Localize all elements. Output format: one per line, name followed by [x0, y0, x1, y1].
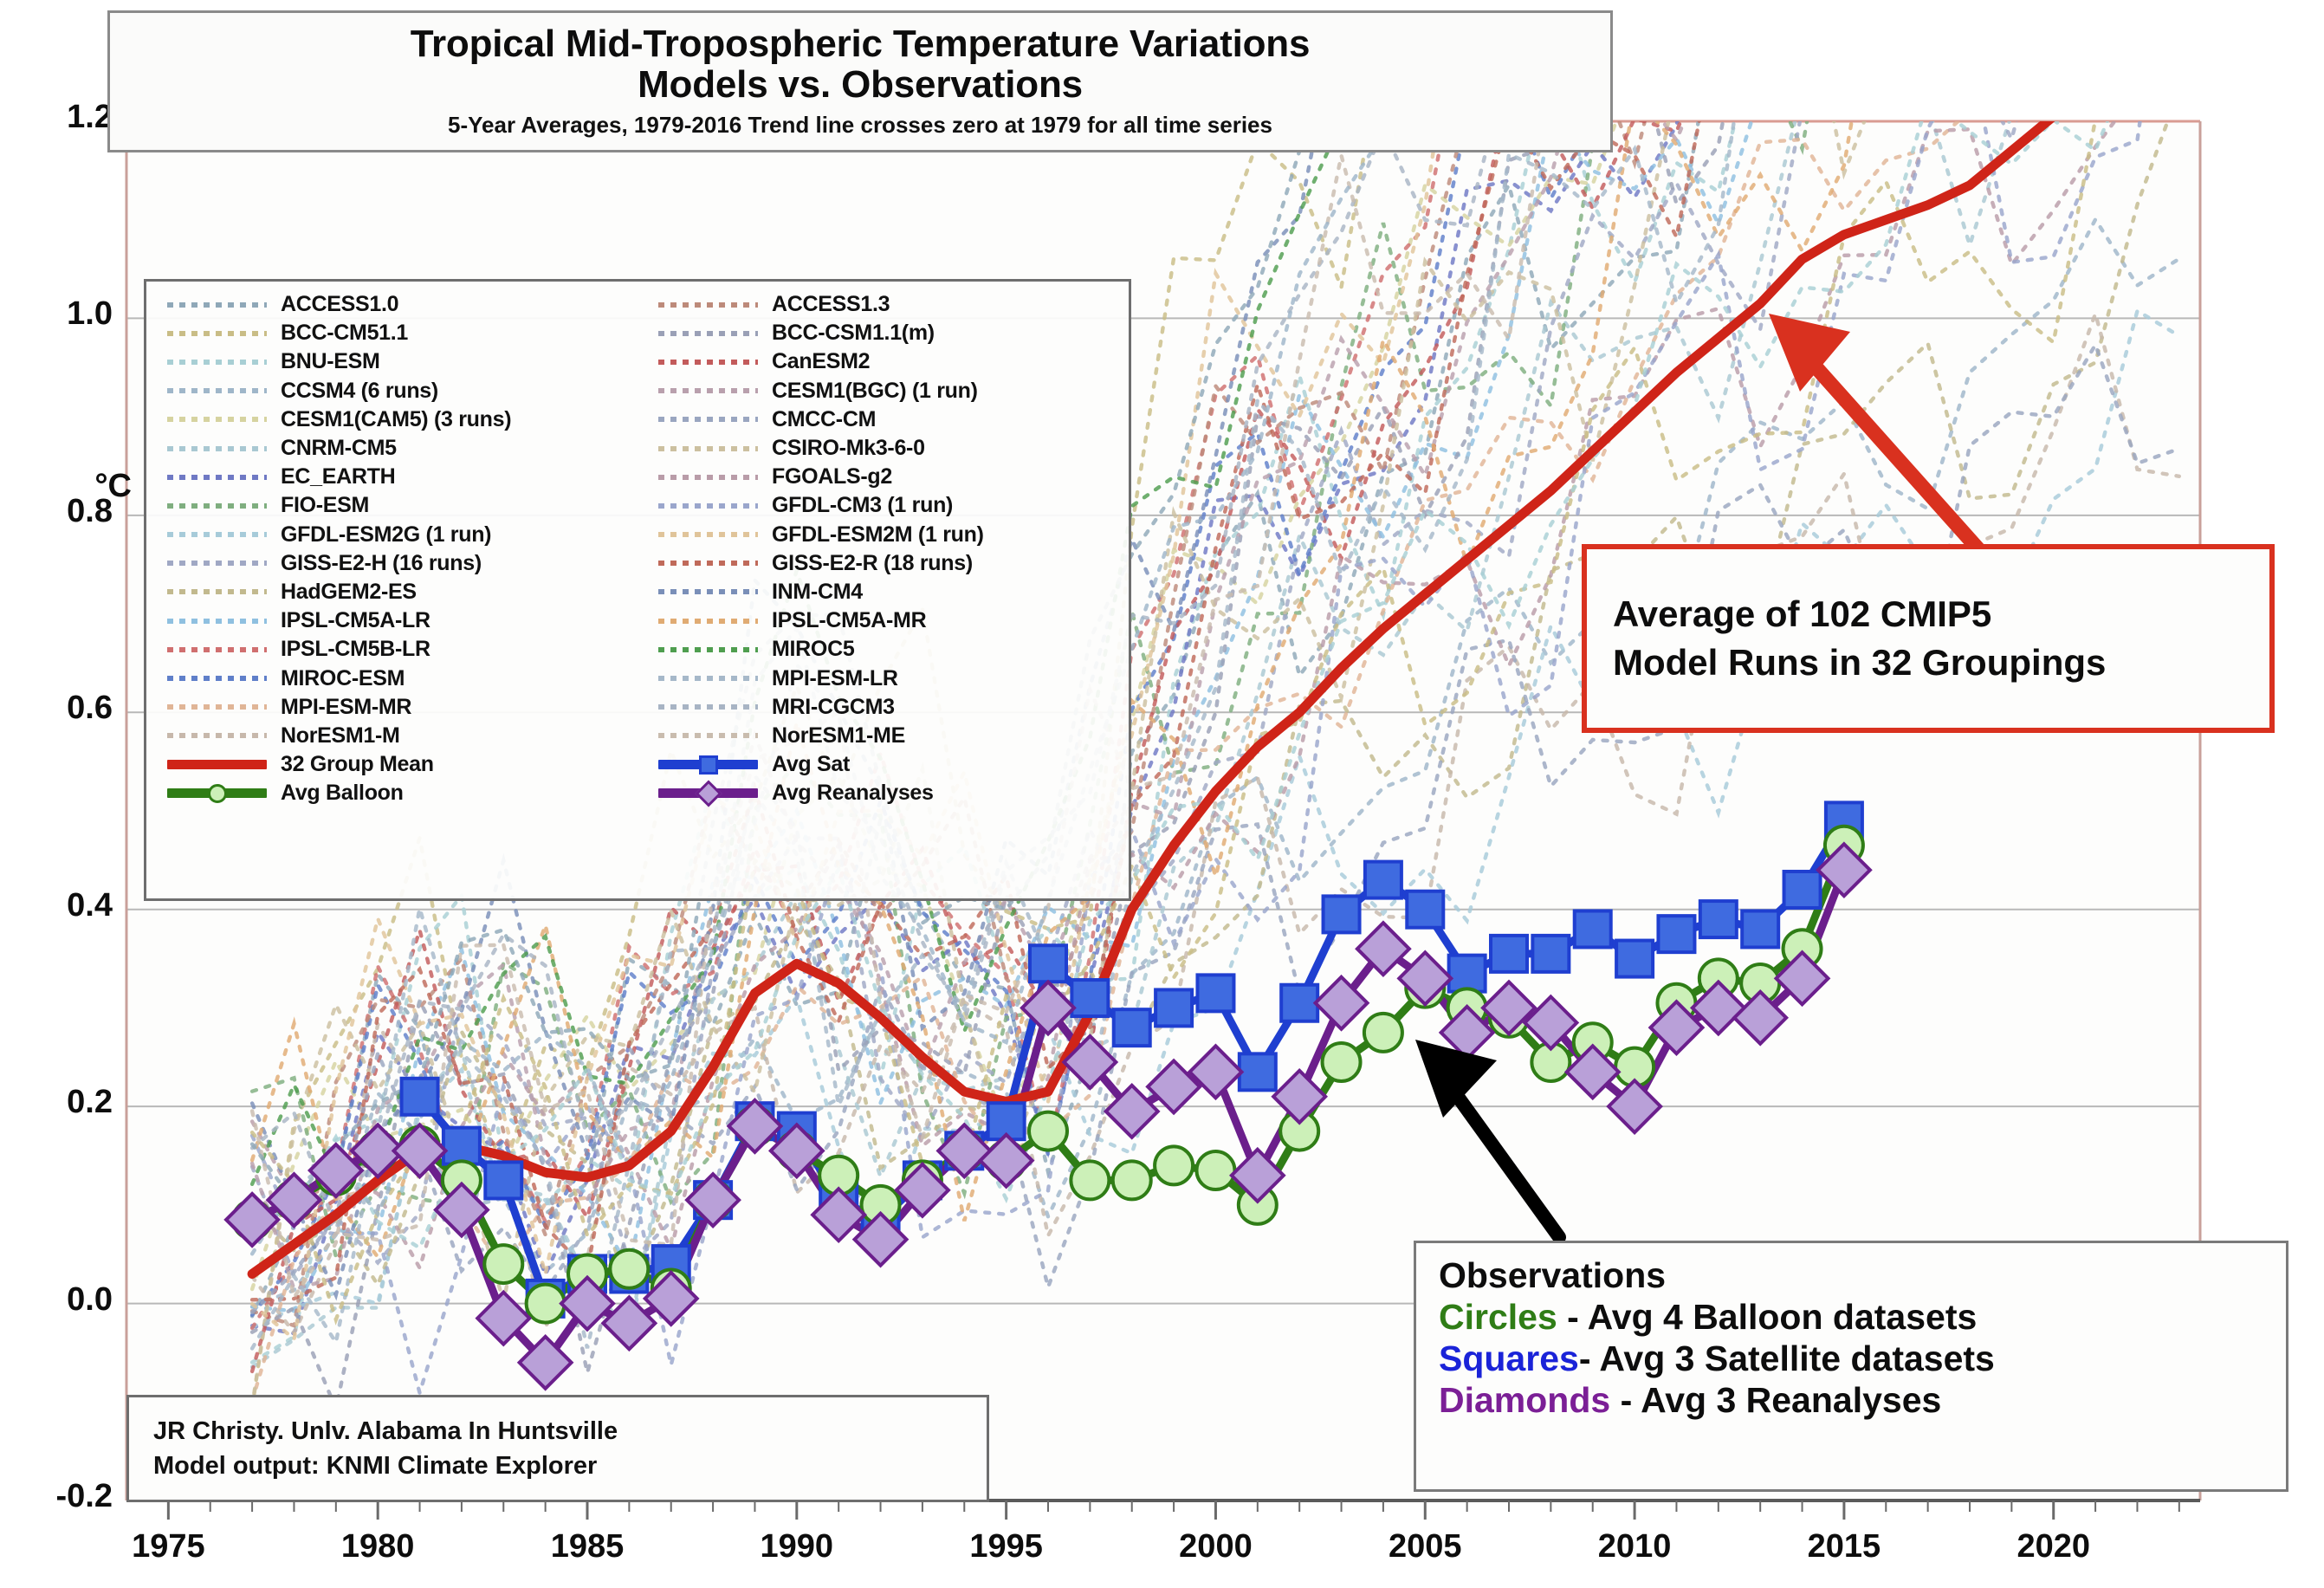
- cmip5-annotation-box: Average of 102 CMIP5 Model Runs in 32 Gr…: [1582, 544, 2275, 733]
- legend-item-label: CNRM-CM5: [281, 436, 397, 461]
- legend-dotted-line-swatch: [167, 701, 267, 713]
- legend-item-label: INM-CM4: [772, 580, 863, 605]
- legend-item-label: BCC-CM51.1: [281, 321, 408, 346]
- legend-item-label: IPSL-CM5A-MR: [772, 608, 926, 633]
- legend-item-label: Avg Reanalyses: [772, 781, 934, 806]
- legend-item-label: GISS-E2-H (16 runs): [281, 551, 482, 576]
- y-axis-tick-label: 1.2: [0, 99, 113, 136]
- x-axis-tick-label: 2005: [1356, 1528, 1494, 1565]
- legend-item-label: NorESM1-M: [281, 723, 400, 749]
- legend-item[interactable]: MPI-ESM-MR: [146, 693, 638, 722]
- observations-annotation-box: Observations Circles - Avg 4 Balloon dat…: [1414, 1241, 2288, 1492]
- legend-item[interactable]: CNRM-CM5: [146, 434, 638, 463]
- legend-item[interactable]: INM-CM4: [638, 578, 1129, 606]
- y-axis-tick-label: 0.0: [0, 1281, 113, 1319]
- legend-item[interactable]: CanESM2: [638, 347, 1129, 376]
- legend-item-label: FIO-ESM: [281, 493, 369, 518]
- legend-item[interactable]: HadGEM2-ES: [146, 578, 638, 606]
- legend-item-label: CCSM4 (6 runs): [281, 379, 438, 404]
- legend-item-label: MPI-ESM-LR: [772, 666, 898, 691]
- legend-item[interactable]: IPSL-CM5A-MR: [638, 606, 1129, 635]
- legend-column-right: ACCESS1.3BCC-CSM1.1(m)CanESM2CESM1(BGC) …: [638, 290, 1129, 898]
- legend-item-label: FGOALS-g2: [772, 464, 892, 489]
- chart-title-line-2: Models vs. Observations: [638, 65, 1083, 106]
- legend-dotted-line-swatch: [167, 615, 267, 627]
- legend-item[interactable]: MRI-CGCM3: [638, 693, 1129, 722]
- legend-item-label: CESM1(CAM5) (3 runs): [281, 407, 511, 432]
- legend-dotted-line-swatch: [167, 729, 267, 742]
- legend-item[interactable]: BNU-ESM: [146, 347, 638, 376]
- legend-dotted-line-swatch: [658, 356, 758, 368]
- legend-diamond-marker-icon: [695, 780, 722, 807]
- legend-dotted-line-swatch: [658, 443, 758, 455]
- legend-item-label: MIROC5: [772, 637, 854, 662]
- x-axis-tick-label: 1985: [518, 1528, 657, 1565]
- legend-item[interactable]: BCC-CM51.1: [146, 319, 638, 347]
- legend-item-label: ACCESS1.3: [772, 292, 890, 317]
- legend-solid-line-swatch: [658, 788, 758, 798]
- legend-item-label: Avg Balloon: [281, 781, 404, 806]
- legend-dotted-line-swatch: [658, 385, 758, 397]
- observations-diamonds-line: Diamonds - Avg 3 Reanalyses: [1439, 1380, 2286, 1422]
- observations-squares-line: Squares- Avg 3 Satellite datasets: [1439, 1338, 2286, 1380]
- legend-item[interactable]: GFDL-ESM2G (1 run): [146, 521, 638, 549]
- legend-item-label: GFDL-CM3 (1 run): [772, 493, 953, 518]
- observations-heading: Observations: [1439, 1255, 2286, 1297]
- legend-item[interactable]: IPSL-CM5A-LR: [146, 606, 638, 635]
- legend-dotted-line-swatch: [658, 672, 758, 684]
- legend-item[interactable]: BCC-CSM1.1(m): [638, 319, 1129, 347]
- legend-dotted-line-swatch: [167, 500, 267, 512]
- squares-description: - Avg 3 Satellite datasets: [1579, 1338, 1995, 1378]
- credit-line-1: JR Christy. Unlv. Alabama In Huntsville: [153, 1414, 987, 1449]
- legend-dotted-line-swatch: [658, 586, 758, 598]
- legend-item[interactable]: FGOALS-g2: [638, 463, 1129, 491]
- legend-item[interactable]: GISS-E2-H (16 runs): [146, 549, 638, 578]
- chart-title-box: Tropical Mid-Tropospheric Temperature Va…: [107, 10, 1613, 152]
- chart-subtitle: 5-Year Averages, 1979-2016 Trend line cr…: [448, 112, 1272, 139]
- legend-item[interactable]: IPSL-CM5B-LR: [146, 635, 638, 664]
- legend-item[interactable]: Avg Sat: [638, 750, 1129, 779]
- legend-item-label: MRI-CGCM3: [772, 695, 895, 720]
- legend-column-left: ACCESS1.0BCC-CM51.1BNU-ESMCCSM4 (6 runs)…: [146, 290, 638, 898]
- x-axis-tick-label: 1990: [728, 1528, 866, 1565]
- legend-dotted-line-swatch: [658, 500, 758, 512]
- legend-solid-line-swatch: [167, 760, 267, 769]
- diamonds-keyword: Diamonds: [1439, 1380, 1610, 1420]
- legend-item-label: CMCC-CM: [772, 407, 876, 432]
- legend-dotted-line-swatch: [658, 557, 758, 569]
- legend-item[interactable]: NorESM1-M: [146, 722, 638, 750]
- y-axis-label: °C: [19, 468, 132, 505]
- legend-dotted-line-swatch: [658, 528, 758, 541]
- circles-keyword: Circles: [1439, 1297, 1557, 1337]
- legend-dotted-line-swatch: [167, 443, 267, 455]
- legend-dotted-line-swatch: [658, 729, 758, 742]
- legend-item[interactable]: ACCESS1.0: [146, 290, 638, 319]
- legend-dotted-line-swatch: [167, 471, 267, 483]
- legend-dotted-line-swatch: [167, 327, 267, 340]
- legend-item[interactable]: FIO-ESM: [146, 491, 638, 520]
- legend-item[interactable]: Avg Balloon: [146, 779, 638, 807]
- legend-dotted-line-swatch: [658, 471, 758, 483]
- legend-item-label: MIROC-ESM: [281, 666, 405, 691]
- legend-item-label: GFDL-ESM2M (1 run): [772, 522, 984, 548]
- legend-item-label: BNU-ESM: [281, 349, 380, 374]
- legend-item-label: IPSL-CM5B-LR: [281, 637, 430, 662]
- legend-dotted-line-swatch: [658, 644, 758, 656]
- legend-circle-marker-icon: [208, 784, 227, 803]
- legend-dotted-line-swatch: [167, 672, 267, 684]
- legend-dotted-line-swatch: [658, 701, 758, 713]
- legend-item[interactable]: 32 Group Mean: [146, 750, 638, 779]
- legend-item[interactable]: GISS-E2-R (18 runs): [638, 549, 1129, 578]
- chart-legend: ACCESS1.0BCC-CM51.1BNU-ESMCCSM4 (6 runs)…: [144, 279, 1131, 901]
- legend-dotted-line-swatch: [167, 299, 267, 311]
- legend-item-label: NorESM1-ME: [772, 723, 905, 749]
- legend-dotted-line-swatch: [658, 413, 758, 425]
- legend-item-label: CSIRO-Mk3-6-0: [772, 436, 925, 461]
- legend-dotted-line-swatch: [658, 299, 758, 311]
- legend-item-label: BCC-CSM1.1(m): [772, 321, 935, 346]
- legend-item[interactable]: MIROC5: [638, 635, 1129, 664]
- legend-item[interactable]: GFDL-ESM2M (1 run): [638, 521, 1129, 549]
- legend-item[interactable]: CSIRO-Mk3-6-0: [638, 434, 1129, 463]
- x-axis-tick-label: 1975: [99, 1528, 237, 1565]
- x-axis-tick-label: 1980: [308, 1528, 447, 1565]
- diamonds-description: - Avg 3 Reanalyses: [1610, 1380, 1941, 1420]
- cmip5-annotation-line-2: Model Runs in 32 Groupings: [1613, 638, 2269, 687]
- legend-solid-line-swatch: [167, 788, 267, 798]
- legend-item-label: IPSL-CM5A-LR: [281, 608, 430, 633]
- legend-item[interactable]: GFDL-CM3 (1 run): [638, 491, 1129, 520]
- legend-dotted-line-swatch: [658, 615, 758, 627]
- legend-item[interactable]: NorESM1-ME: [638, 722, 1129, 750]
- legend-dotted-line-swatch: [658, 327, 758, 340]
- legend-item-label: CanESM2: [772, 349, 870, 374]
- legend-item[interactable]: Avg Reanalyses: [638, 779, 1129, 807]
- legend-item[interactable]: CESM1(BGC) (1 run): [638, 377, 1129, 405]
- credit-box: JR Christy. Unlv. Alabama In Huntsville …: [126, 1395, 989, 1502]
- legend-item-label: GFDL-ESM2G (1 run): [281, 522, 491, 548]
- circles-description: - Avg 4 Balloon datasets: [1557, 1297, 1978, 1337]
- y-axis-tick-label: 0.4: [0, 887, 113, 924]
- legend-item-label: ACCESS1.0: [281, 292, 398, 317]
- y-axis-tick-label: 0.2: [0, 1084, 113, 1121]
- legend-dotted-line-swatch: [167, 528, 267, 541]
- chart-title-line-1: Tropical Mid-Tropospheric Temperature Va…: [411, 24, 1311, 65]
- x-axis-tick-label: 2010: [1565, 1528, 1704, 1565]
- legend-item-label: GISS-E2-R (18 runs): [772, 551, 973, 576]
- legend-item[interactable]: EC_EARTH: [146, 463, 638, 491]
- legend-item-label: EC_EARTH: [281, 464, 395, 489]
- legend-item-label: CESM1(BGC) (1 run): [772, 379, 978, 404]
- legend-dotted-line-swatch: [167, 586, 267, 598]
- legend-square-marker-icon: [699, 755, 718, 775]
- legend-item-label: HadGEM2-ES: [281, 580, 417, 605]
- legend-item[interactable]: MIROC-ESM: [146, 664, 638, 692]
- legend-item[interactable]: CCSM4 (6 runs): [146, 377, 638, 405]
- legend-dotted-line-swatch: [167, 356, 267, 368]
- legend-dotted-line-swatch: [167, 385, 267, 397]
- observations-circles-line: Circles - Avg 4 Balloon datasets: [1439, 1297, 2286, 1338]
- legend-dotted-line-swatch: [167, 557, 267, 569]
- legend-dotted-line-swatch: [167, 413, 267, 425]
- x-axis-tick-label: 2020: [1984, 1528, 2123, 1565]
- squares-keyword: Squares: [1439, 1338, 1579, 1378]
- legend-item-label: 32 Group Mean: [281, 752, 434, 777]
- y-axis-tick-label: 0.6: [0, 690, 113, 727]
- legend-item[interactable]: ACCESS1.3: [638, 290, 1129, 319]
- legend-item[interactable]: CMCC-CM: [638, 405, 1129, 434]
- y-axis-tick-label: 1.0: [0, 295, 113, 333]
- legend-item[interactable]: MPI-ESM-LR: [638, 664, 1129, 692]
- x-axis-tick-label: 2000: [1146, 1528, 1285, 1565]
- legend-item[interactable]: CESM1(CAM5) (3 runs): [146, 405, 638, 434]
- legend-dotted-line-swatch: [167, 644, 267, 656]
- cmip5-annotation-line-1: Average of 102 CMIP5: [1613, 590, 2269, 638]
- credit-line-2: Model output: KNMI Climate Explorer: [153, 1449, 987, 1483]
- legend-item-label: Avg Sat: [772, 752, 850, 777]
- x-axis-tick-label: 2015: [1775, 1528, 1913, 1565]
- legend-solid-line-swatch: [658, 760, 758, 769]
- y-axis-tick-label: -0.2: [0, 1478, 113, 1515]
- x-axis-tick-label: 1995: [937, 1528, 1076, 1565]
- legend-item-label: MPI-ESM-MR: [281, 695, 411, 720]
